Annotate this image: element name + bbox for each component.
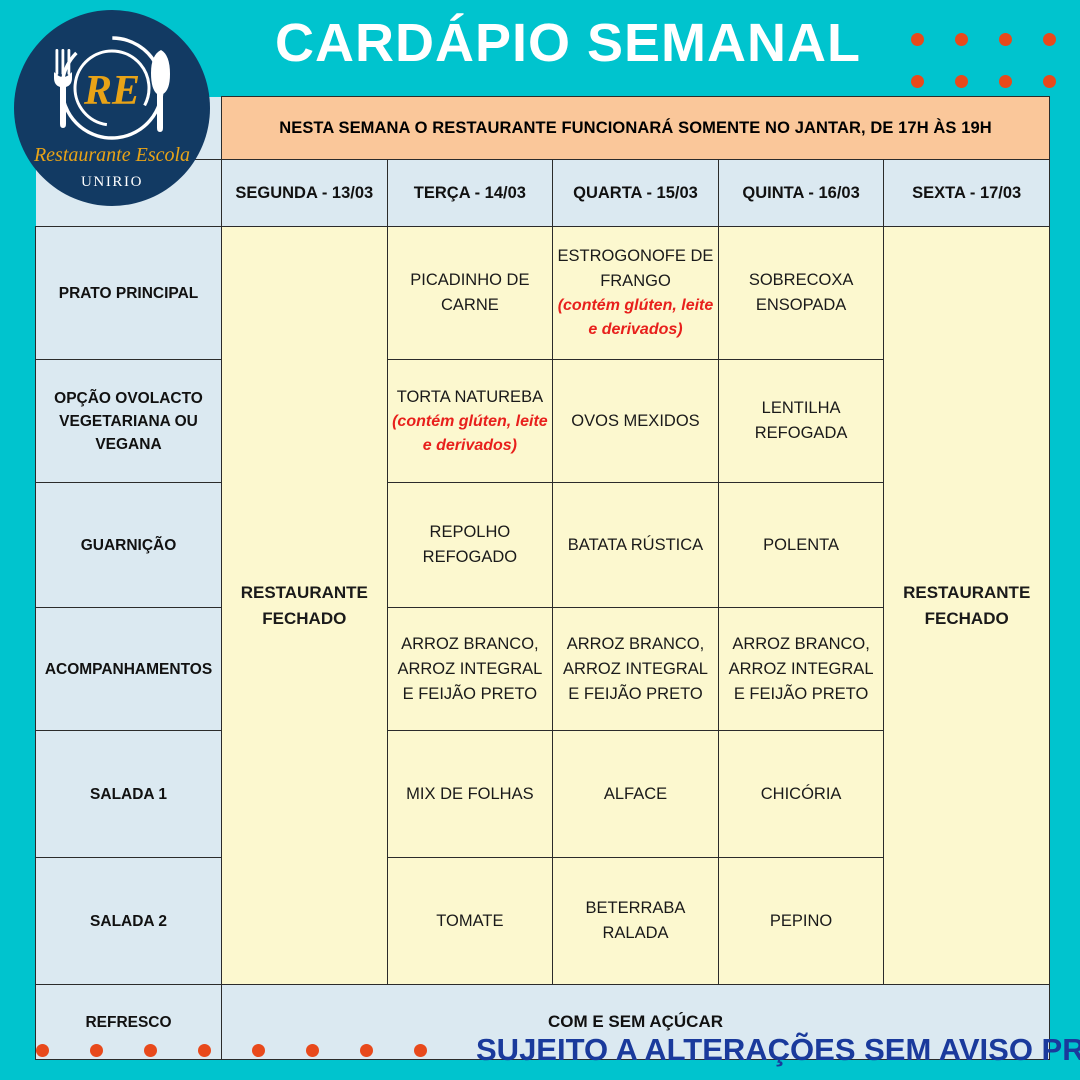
day-header-terca: TERÇA - 14/03 bbox=[387, 160, 553, 227]
cell-opcao-quarta: OVOS MEXIDOS bbox=[553, 360, 719, 483]
footer-dot-row bbox=[36, 1044, 468, 1057]
dot-icon bbox=[90, 1044, 103, 1057]
dot-icon bbox=[36, 1044, 49, 1057]
weekly-menu-table: NESTA SEMANA O RESTAURANTE FUNCIONARÁ SO… bbox=[35, 96, 1050, 1060]
cell-acompanhamentos-quinta: ARROZ BRANCO, ARROZ INTEGRAL E FEIJÃO PR… bbox=[718, 608, 884, 731]
page-title: CARDÁPIO SEMANAL bbox=[248, 8, 888, 78]
day-header-quinta: QUINTA - 16/03 bbox=[718, 160, 884, 227]
allergen-note: (contém glúten, leite e derivados) bbox=[392, 410, 549, 458]
closed-cell-sexta: RESTAURANTE FECHADO bbox=[884, 227, 1050, 985]
cell-opcao-terca: TORTA NATUREBA (contém glúten, leite e d… bbox=[387, 360, 553, 483]
footer-disclaimer: SUJEITO A ALTERAÇÕES SEM AVISO PRÉVIO! bbox=[476, 1032, 1080, 1068]
row-label-opcao-vegetariana: OPÇÃO OVOLACTO VEGETARIANA OU VEGANA bbox=[36, 360, 222, 483]
logo-name: Restaurante Escola bbox=[33, 144, 190, 166]
dot-icon bbox=[414, 1044, 427, 1057]
dot-icon bbox=[999, 75, 1012, 88]
cell-prato-principal-terca: PICADINHO DE CARNE bbox=[387, 227, 553, 360]
dot-icon bbox=[1043, 75, 1056, 88]
row-label-salada-1: SALADA 1 bbox=[36, 731, 222, 858]
restaurante-escola-logo: RE Restaurante Escola UNIRIO bbox=[14, 10, 210, 206]
dish-name: TORTA NATUREBA bbox=[397, 388, 543, 406]
decorative-dot-grid bbox=[895, 18, 1071, 102]
table-row: PRATO PRINCIPAL RESTAURANTE FECHADO PICA… bbox=[36, 227, 1050, 360]
logo-monogram: RE bbox=[83, 68, 140, 114]
knife-icon bbox=[151, 50, 170, 132]
row-label-salada-2: SALADA 2 bbox=[36, 858, 222, 985]
row-label-guarnicao: GUARNIÇÃO bbox=[36, 483, 222, 608]
dot-icon bbox=[198, 1044, 211, 1057]
cell-opcao-quinta: LENTILHA REFOGADA bbox=[718, 360, 884, 483]
cell-salada1-quarta: ALFACE bbox=[553, 731, 719, 858]
dot-icon bbox=[252, 1044, 265, 1057]
cell-salada1-terca: MIX DE FOLHAS bbox=[387, 731, 553, 858]
day-header-quarta: QUARTA - 15/03 bbox=[553, 160, 719, 227]
dot-icon bbox=[911, 33, 924, 46]
logo-institution: UNIRIO bbox=[81, 174, 143, 190]
day-header-sexta: SEXTA - 17/03 bbox=[884, 160, 1050, 227]
cell-prato-principal-quarta: ESTROGONOFE DE FRANGO (contém glúten, le… bbox=[553, 227, 719, 360]
cell-salada2-terca: TOMATE bbox=[387, 858, 553, 985]
footer-bar: SUJEITO A ALTERAÇÕES SEM AVISO PRÉVIO! bbox=[0, 1020, 1080, 1080]
closed-cell-segunda: RESTAURANTE FECHADO bbox=[222, 227, 388, 985]
dish-name: ESTROGONOFE DE FRANGO bbox=[558, 247, 714, 290]
dot-icon bbox=[144, 1044, 157, 1057]
cell-guarnicao-quinta: POLENTA bbox=[718, 483, 884, 608]
dot-icon bbox=[306, 1044, 319, 1057]
cell-salada1-quinta: CHICÓRIA bbox=[718, 731, 884, 858]
day-header-segunda: SEGUNDA - 13/03 bbox=[222, 160, 388, 227]
cell-guarnicao-quarta: BATATA RÚSTICA bbox=[553, 483, 719, 608]
allergen-note: (contém glúten, leite e derivados) bbox=[557, 294, 714, 342]
row-label-acompanhamentos: ACOMPANHAMENTOS bbox=[36, 608, 222, 731]
cell-salada2-quinta: PEPINO bbox=[718, 858, 884, 985]
dot-icon bbox=[360, 1044, 373, 1057]
cell-guarnicao-terca: REPOLHO REFOGADO bbox=[387, 483, 553, 608]
dot-icon bbox=[999, 33, 1012, 46]
dot-icon bbox=[955, 75, 968, 88]
cell-acompanhamentos-quarta: ARROZ BRANCO, ARROZ INTEGRAL E FEIJÃO PR… bbox=[553, 608, 719, 731]
row-label-prato-principal: PRATO PRINCIPAL bbox=[36, 227, 222, 360]
weekly-notice-banner: NESTA SEMANA O RESTAURANTE FUNCIONARÁ SO… bbox=[222, 97, 1050, 160]
cell-prato-principal-quinta: SOBRECOXA ENSOPADA bbox=[718, 227, 884, 360]
cell-salada2-quarta: BETERRABA RALADA bbox=[553, 858, 719, 985]
dot-icon bbox=[911, 75, 924, 88]
dot-icon bbox=[1043, 33, 1056, 46]
cell-acompanhamentos-terca: ARROZ BRANCO, ARROZ INTEGRAL E FEIJÃO PR… bbox=[387, 608, 553, 731]
logo-artwork: RE Restaurante Escola UNIRIO bbox=[14, 10, 210, 206]
dot-icon bbox=[955, 33, 968, 46]
